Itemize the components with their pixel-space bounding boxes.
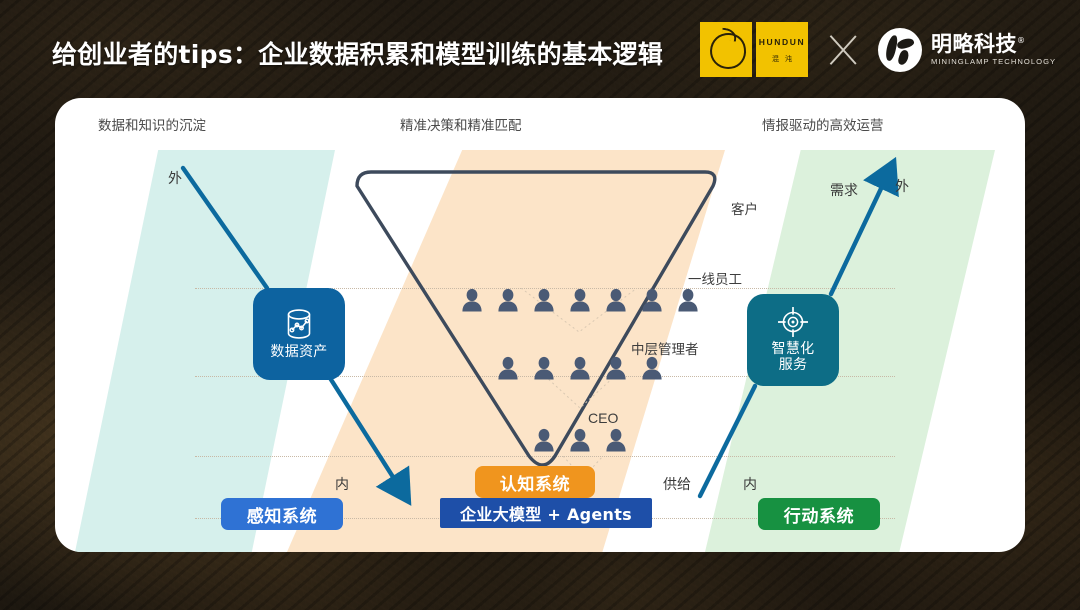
marker-inside-left: 内 (335, 474, 349, 494)
marker-inside-right: 内 (743, 474, 757, 494)
person-icon (598, 288, 634, 312)
pill-cognition-system[interactable]: 认知系统 (475, 466, 595, 498)
marker-outside-left: 外 (168, 168, 182, 188)
logo-separator-x-icon (820, 27, 866, 73)
pill-action-system[interactable]: 行动系统 (758, 498, 880, 530)
card-intelligent-service[interactable]: 智慧化 服务 (747, 294, 839, 386)
hundun-logo-text: HUNDUN 混沌 (756, 22, 808, 77)
card-intelligent-service-label-1: 智慧化 (772, 342, 815, 358)
person-icon (490, 356, 526, 380)
hundun-logo-cn: 混沌 (756, 54, 808, 64)
funnel-chevron (545, 376, 615, 414)
mininglamp-logo: 明略科技® MININGLAMP TECHNOLOGY (878, 28, 1056, 72)
pyramid-row-label-ceo: CEO (588, 410, 618, 426)
pill-perception-system[interactable]: 感知系统 (221, 498, 343, 530)
person-icon (454, 288, 490, 312)
card-intelligent-service-label-2: 服务 (779, 358, 808, 374)
column-header-middle: 精准决策和精准匹配 (400, 114, 522, 134)
column-header-right: 情报驱动的高效运营 (762, 114, 884, 134)
pill-enterprise-model-agents[interactable]: 企业大模型 + Agents (440, 498, 652, 528)
person-icon (634, 356, 670, 380)
slide-header: 给创业者的tips：企业数据积累和模型训练的基本逻辑 HUNDUN 混沌 明略科… (0, 0, 1080, 98)
pyramid-row-frontline (486, 356, 674, 380)
page-title: 给创业者的tips：企业数据积累和模型训练的基本逻辑 (52, 35, 663, 71)
hundun-circle-icon (708, 31, 749, 72)
person-icon (598, 428, 634, 452)
marker-demand: 需求 (830, 180, 858, 200)
person-icon (598, 356, 634, 380)
mininglamp-mark-icon (878, 28, 922, 72)
pyramid-row-middle-managers (522, 428, 638, 452)
target-crosshair-icon (778, 307, 808, 337)
mininglamp-logo-en: MININGLAMP TECHNOLOGY (931, 57, 1056, 66)
marker-outside-right: 外 (895, 176, 909, 196)
pyramid-row-customers (450, 288, 710, 312)
card-data-assets-label: 数据资产 (270, 345, 327, 361)
card-data-assets[interactable]: 数据资产 (253, 288, 345, 380)
pyramid-row-label-frontline: 一线员工 (688, 268, 742, 288)
mininglamp-logo-cn: 明略科技® (931, 33, 1056, 55)
diagram-card: 数据和知识的沉淀 精准决策和精准匹配 情报驱动的高效运营 客户 一线员工 中层管… (55, 98, 1025, 552)
pyramid-row-label-customers: 客户 (731, 198, 758, 218)
person-icon (526, 288, 562, 312)
person-icon (562, 428, 598, 452)
pyramid-row-label-middle-managers: 中层管理者 (631, 338, 699, 358)
person-icon (562, 356, 598, 380)
hundun-logo-mark (700, 22, 752, 77)
marker-supply: 供给 (663, 474, 691, 494)
person-icon (634, 288, 670, 312)
person-icon (562, 288, 598, 312)
person-icon (526, 428, 562, 452)
column-header-left: 数据和知识的沉淀 (98, 114, 206, 134)
database-chart-icon (284, 308, 314, 340)
person-icon (670, 288, 706, 312)
hundun-logo-en: HUNDUN (756, 37, 808, 47)
person-icon (490, 288, 526, 312)
logo-group: HUNDUN 混沌 明略科技® MININGLAMP TECHNOLOGY (700, 22, 1056, 77)
person-icon (526, 356, 562, 380)
